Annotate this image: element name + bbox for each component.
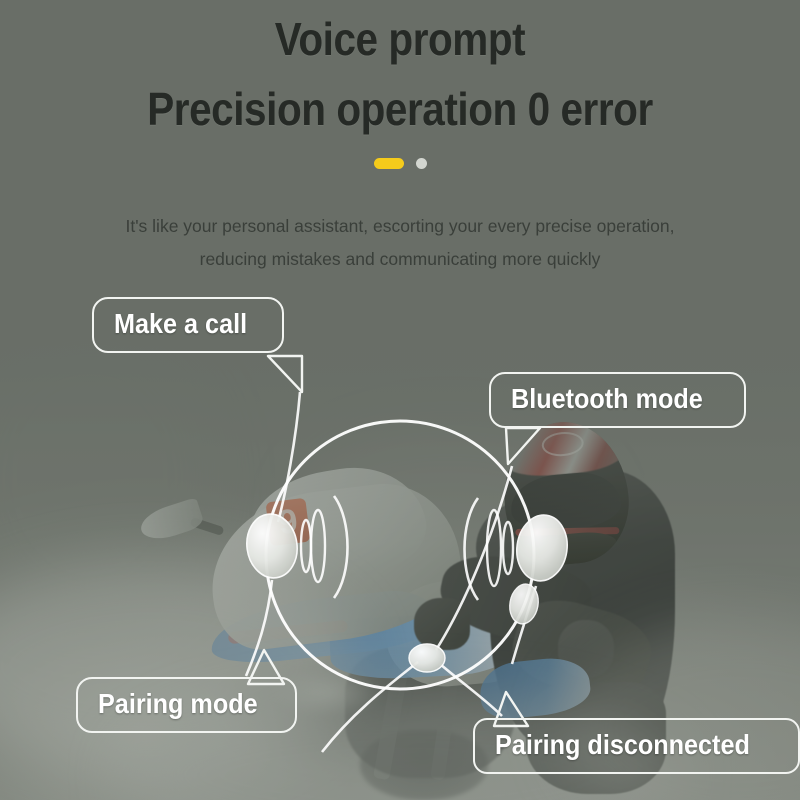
callout-bubble-box: Pairing mode [76,677,297,733]
tail-bluetooth-mode [506,428,540,464]
callout-bluetooth-mode[interactable]: Bluetooth mode [489,372,746,428]
center-hub-node [409,644,445,672]
callout-bubble-box: Pairing disconnected [473,718,800,774]
sound-wave-left-1 [301,520,311,572]
callout-pairing-mode[interactable]: Pairing mode [76,677,297,733]
sound-wave-left-2 [311,510,325,582]
connector-hub-left [322,662,418,752]
earbud-left [243,511,301,581]
callout-label: Pairing mode [98,688,258,720]
callout-label: Bluetooth mode [511,383,703,415]
banner-stage: Voice prompt Precision operation 0 error… [0,0,800,800]
callout-pairing-disconnected[interactable]: Pairing disconnected [473,718,800,774]
sound-wave-left-3 [334,496,348,598]
connector-call [278,392,300,522]
sound-wave-right-1 [503,522,513,574]
focus-ring [266,421,534,689]
callout-make-a-call[interactable]: Make a call [92,297,284,353]
earbud-right [513,512,572,584]
callout-bubble-box: Make a call [92,297,284,353]
sound-wave-right-3 [465,498,479,600]
callout-bubble-box: Bluetooth mode [489,372,746,428]
tail-make-a-call [268,356,302,392]
callout-label: Make a call [114,308,247,340]
connector-disconnected [440,664,502,716]
callout-label: Pairing disconnected [495,729,750,761]
